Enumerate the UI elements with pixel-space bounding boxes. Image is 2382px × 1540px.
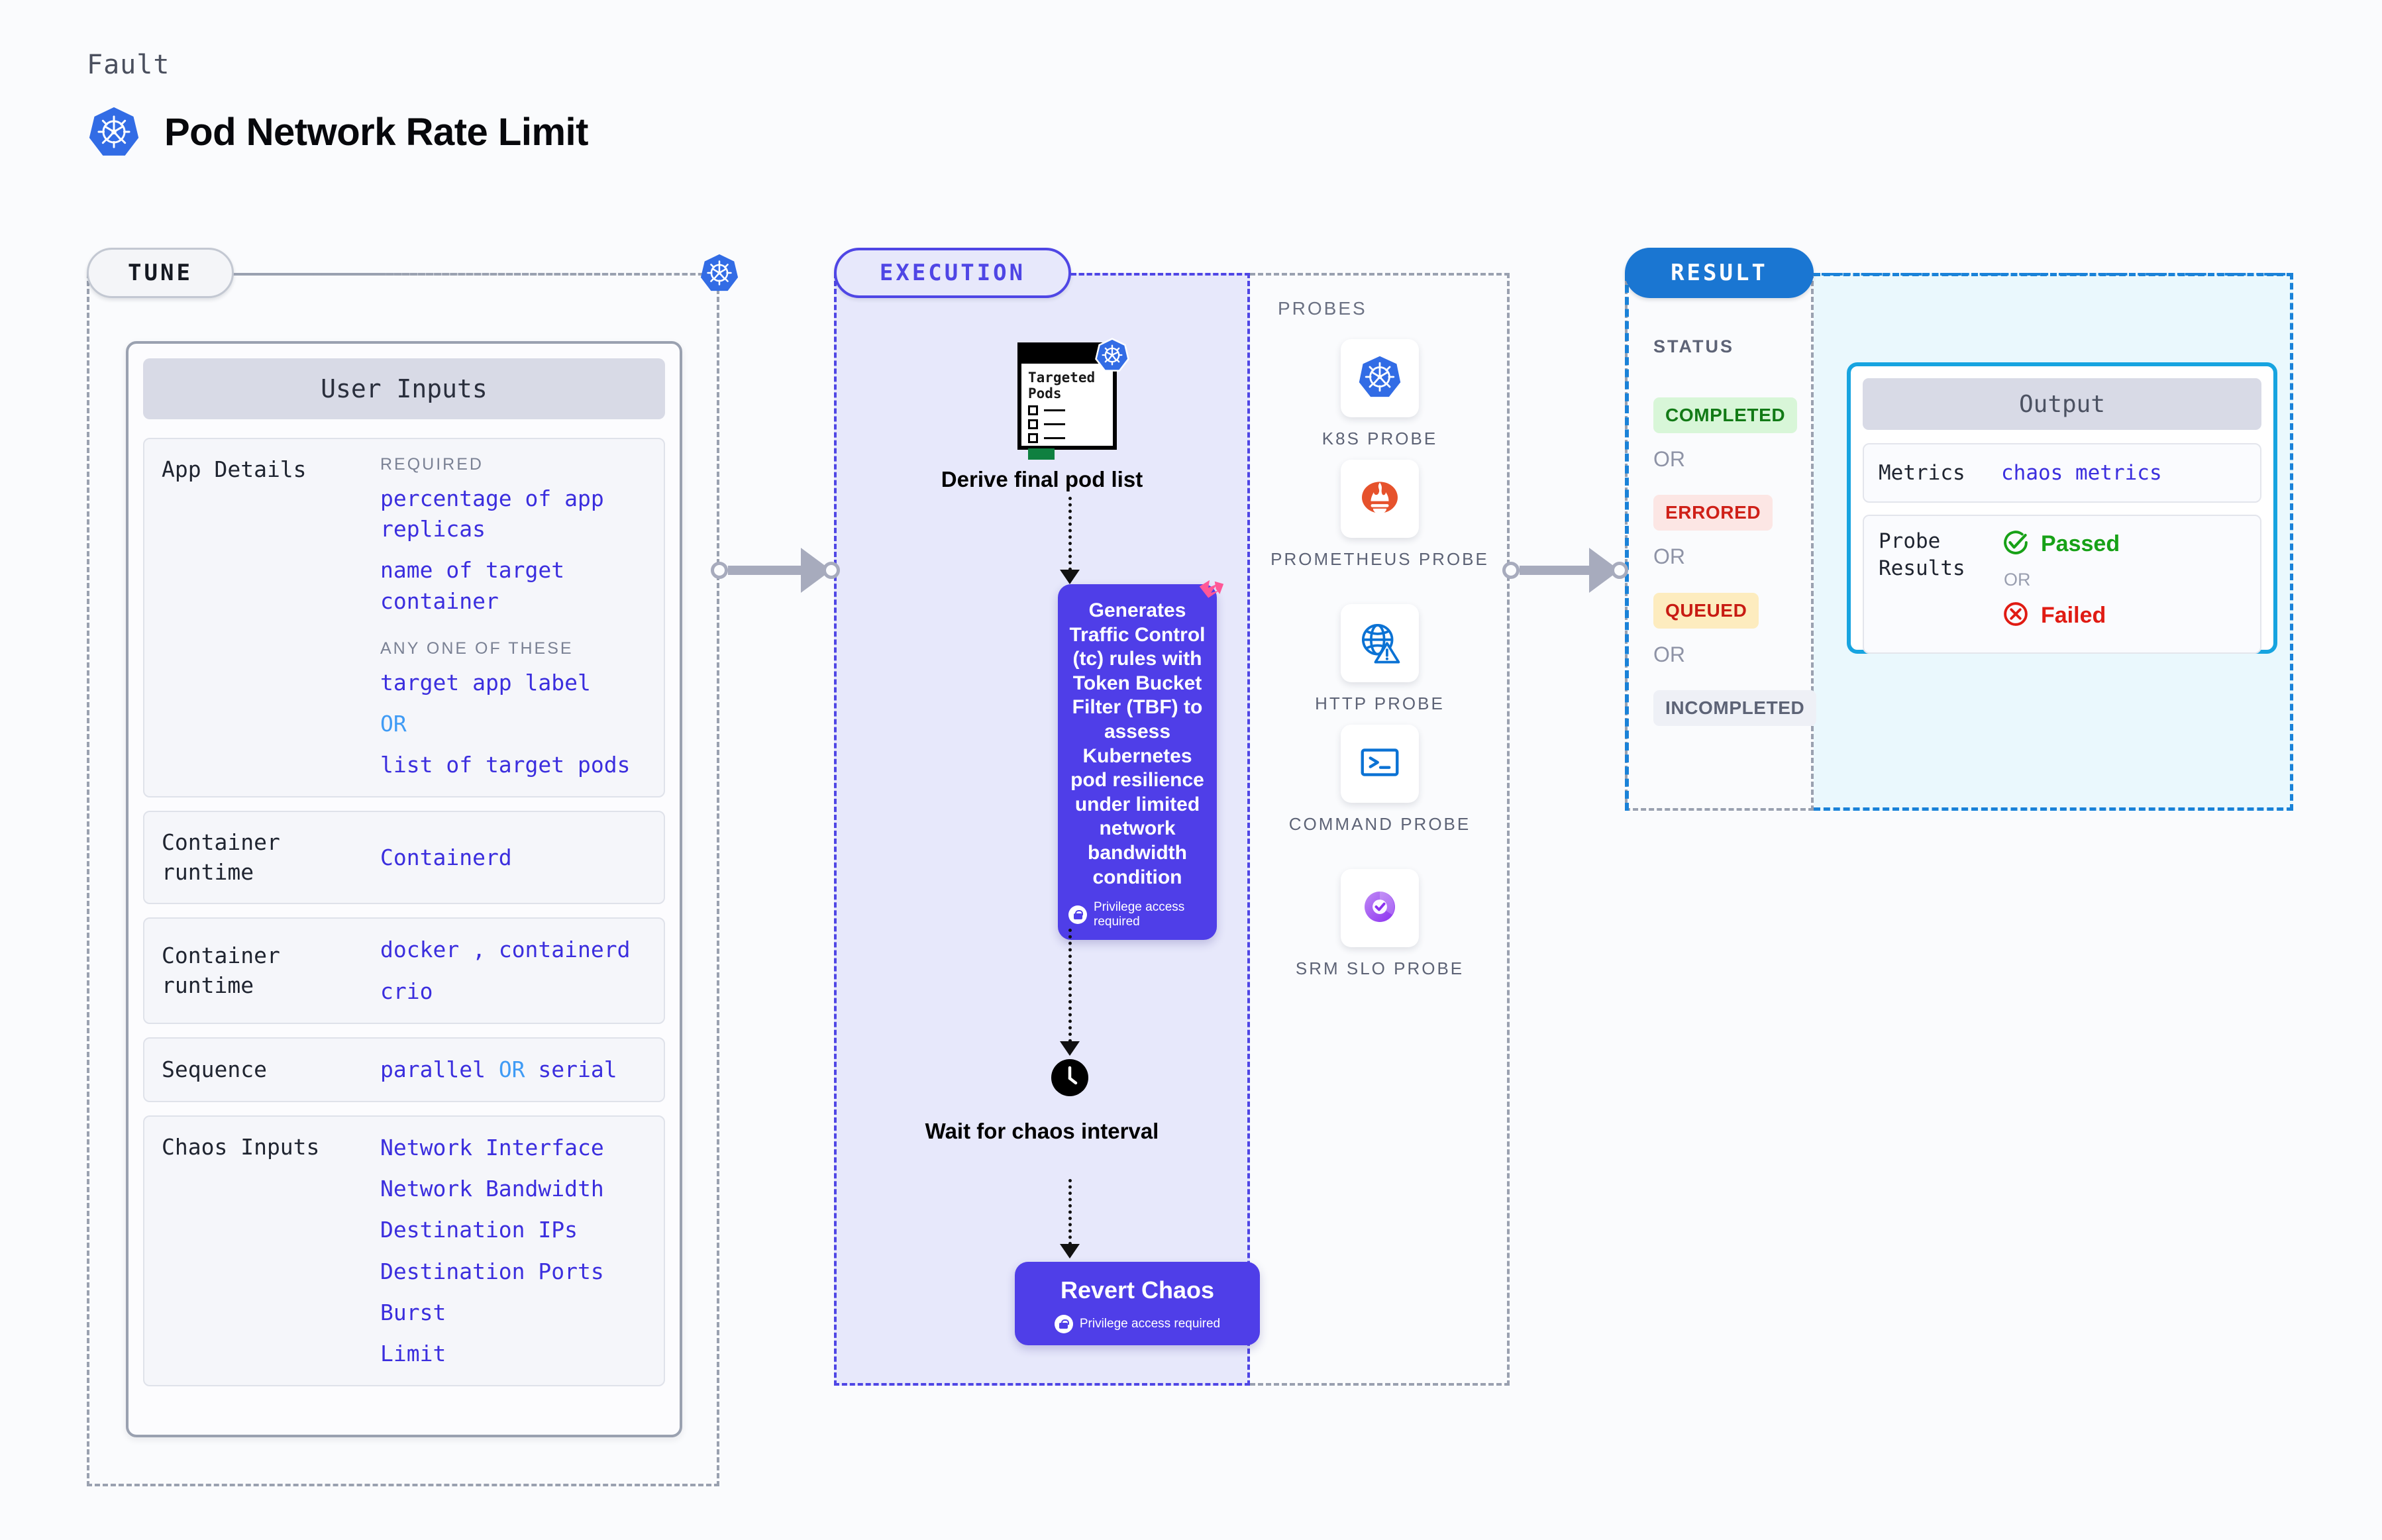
connector-bar: [728, 566, 801, 575]
checkbox-icon: [1028, 433, 1038, 443]
probe-label: HTTP PROBE: [1315, 693, 1445, 715]
tune-header-line: [234, 273, 719, 276]
probe-command[interactable]: COMMAND PROBE: [1250, 725, 1510, 835]
x-circle-icon: [2001, 599, 2030, 632]
input-value: target app label: [380, 668, 647, 698]
probe-label: PROMETHEUS PROBE: [1270, 548, 1489, 570]
probe-tile: [1341, 725, 1419, 803]
row-key: Chaos Inputs: [162, 1133, 380, 1162]
row-key: Container runtime: [162, 941, 380, 1000]
row-values: docker , containerd crio: [380, 935, 647, 1006]
chaos-action-card: Generates Traffic Control (tc) rules wit…: [1058, 584, 1217, 940]
status-badge-errored: ERRORED: [1653, 495, 1773, 531]
row-key: Probe Results: [1879, 528, 2001, 582]
probe-result-failed: Failed: [2001, 599, 2246, 632]
input-value: name of target container: [380, 555, 647, 616]
pods-list-item: [1028, 419, 1108, 429]
input-value: Destination IPs: [380, 1215, 647, 1245]
probes-column: PROBES: [1250, 273, 1510, 1386]
or-separator: OR: [1653, 447, 1685, 472]
privilege-note-row: Privilege access required: [1068, 900, 1206, 929]
or-separator: OR: [1653, 544, 1685, 569]
input-value: Network Interface: [380, 1133, 647, 1163]
flow-arrow-2: [1060, 1041, 1080, 1056]
row-values: parallel OR serial: [380, 1054, 647, 1085]
input-value: list of target pods: [380, 750, 647, 780]
probe-result-passed: Passed: [2001, 528, 2246, 560]
targeted-pods-illustration: Targeted Pods: [1017, 342, 1122, 455]
input-value: docker , containerd: [380, 935, 647, 965]
connector-start-dot: [711, 562, 728, 579]
status-badge-incompleted: INCOMPLETED: [1653, 690, 1816, 726]
litmus-icon: [1196, 578, 1226, 608]
row-values: Passed OR Failed: [2001, 528, 2246, 632]
input-value: Burst: [380, 1298, 647, 1328]
output-row-probe-results: Probe Results Passed OR: [1863, 515, 2261, 654]
input-value: Containerd: [380, 843, 647, 873]
metrics-value: chaos metrics: [2001, 461, 2246, 485]
srm-slo-icon: [1357, 884, 1403, 933]
checkbox-icon: [1028, 419, 1038, 429]
kubernetes-icon: [87, 105, 141, 159]
terminal-icon: [1357, 739, 1403, 789]
output-card: Output Metrics chaos metrics Probe Resul…: [1847, 362, 2277, 654]
row-values: Containerd: [380, 843, 647, 873]
chaos-action-text: Generates Traffic Control (tc) rules wit…: [1068, 599, 1206, 890]
output-title: Output: [1863, 378, 2261, 430]
row-values: Network Interface Network Bandwidth Dest…: [380, 1133, 647, 1369]
row-key: Container runtime: [162, 828, 380, 887]
result-column: STATUS COMPLETED OR ERRORED OR QUEUED OR…: [1625, 273, 1814, 811]
list-line: [1044, 437, 1065, 439]
output-row-metrics: Metrics chaos metrics: [1863, 443, 2261, 503]
privilege-note: Privilege access required: [1094, 900, 1206, 929]
probe-tile: [1341, 869, 1419, 947]
probe-label: K8S PROBE: [1322, 428, 1437, 450]
probe-tile: [1341, 460, 1419, 538]
sub-label-required: REQUIRED: [380, 455, 647, 474]
input-value: Network Bandwidth: [380, 1174, 647, 1204]
or-separator: OR: [1653, 642, 1685, 667]
flow-connector-1: [1068, 497, 1072, 571]
checkbox-icon: [1028, 405, 1038, 415]
failed-label: Failed: [2041, 603, 2106, 629]
lock-icon: [1055, 1315, 1073, 1333]
lock-icon: [1068, 905, 1087, 924]
clock-icon: [1051, 1059, 1088, 1096]
pods-body: Targeted Pods: [1021, 364, 1113, 460]
row-values: chaos metrics: [2001, 461, 2246, 485]
probe-http[interactable]: HTTP PROBE: [1250, 604, 1510, 715]
globe-warning-icon: [1357, 619, 1403, 668]
derive-pod-list-caption: Derive final pod list: [834, 466, 1250, 493]
input-value: parallel OR serial: [380, 1054, 647, 1085]
diagram-canvas: Fault: [0, 0, 2382, 1540]
prometheus-icon: [1356, 474, 1404, 525]
status-bar: [1028, 448, 1055, 460]
connector-tune-to-execution: [711, 548, 840, 593]
user-inputs-title: User Inputs: [143, 358, 665, 419]
probe-tile: [1341, 604, 1419, 682]
input-value: percentage of app replicas: [380, 484, 647, 544]
probe-tile: [1341, 339, 1419, 417]
tune-row-container-runtime-2: Container runtime docker , containerd cr…: [143, 917, 665, 1023]
privilege-note: Privilege access required: [1080, 1317, 1220, 1331]
targeted-pods-title: Targeted Pods: [1028, 370, 1108, 401]
sub-label-any-one: ANY ONE OF THESE: [380, 639, 647, 658]
flow-connector-2: [1068, 929, 1072, 1043]
user-inputs-card: User Inputs App Details REQUIRED percent…: [126, 341, 682, 1437]
probe-label: COMMAND PROBE: [1289, 813, 1471, 835]
probe-k8s[interactable]: K8S PROBE: [1250, 339, 1510, 450]
input-value: crio: [380, 976, 647, 1007]
probes-label: PROBES: [1278, 298, 1367, 319]
probe-label: SRM SLO PROBE: [1296, 958, 1464, 980]
connector-probes-to-result: [1502, 548, 1628, 593]
list-line: [1044, 423, 1065, 425]
flow-connector-3: [1068, 1179, 1072, 1245]
fault-kicker: Fault: [87, 50, 170, 80]
row-values: REQUIRED percentage of app replicas name…: [380, 455, 647, 780]
privilege-note-row: Privilege access required: [1025, 1315, 1249, 1333]
revert-chaos-card: Revert Chaos Privilege access required: [1015, 1262, 1260, 1345]
input-value: Destination Ports: [380, 1257, 647, 1287]
flow-arrow-1: [1060, 570, 1080, 584]
status-badge-completed: COMPLETED: [1653, 397, 1797, 433]
page-title: Pod Network Rate Limit: [164, 110, 588, 154]
pods-list-item: [1028, 433, 1108, 443]
input-value: Limit: [380, 1339, 647, 1369]
list-line: [1044, 409, 1065, 411]
passed-label: Passed: [2041, 531, 2120, 557]
tune-row-chaos-inputs: Chaos Inputs Network Interface Network B…: [143, 1115, 665, 1386]
pods-list-item: [1028, 405, 1108, 415]
tune-pill[interactable]: TUNE: [87, 248, 234, 298]
connector-bar: [1520, 566, 1589, 575]
probe-prometheus[interactable]: PROMETHEUS PROBE: [1250, 460, 1510, 570]
revert-chaos-title: Revert Chaos: [1025, 1276, 1249, 1304]
flow-arrow-3: [1060, 1244, 1080, 1258]
row-key: Sequence: [162, 1055, 380, 1085]
or-separator: OR: [380, 709, 647, 739]
tune-row-sequence: Sequence parallel OR serial: [143, 1037, 665, 1102]
output-column: Output Metrics chaos metrics Probe Resul…: [1814, 273, 2293, 811]
status-label: STATUS: [1653, 336, 1734, 357]
fault-title-row: Pod Network Rate Limit: [87, 105, 588, 159]
wait-interval-caption: Wait for chaos interval: [834, 1118, 1250, 1145]
status-badge-queued: QUEUED: [1653, 593, 1759, 629]
check-circle-icon: [2001, 528, 2030, 560]
kubernetes-icon: [1355, 352, 1404, 405]
kubernetes-icon: [1094, 337, 1130, 373]
kubernetes-icon: [699, 252, 740, 293]
row-key: App Details: [162, 455, 380, 485]
tune-row-container-runtime-1: Container runtime Containerd: [143, 811, 665, 904]
row-key: Metrics: [1879, 460, 2001, 487]
execution-column: Targeted Pods: [834, 273, 1250, 1386]
or-separator: OR: [2004, 570, 2246, 590]
tune-row-app-details: App Details REQUIRED percentage of app r…: [143, 438, 665, 797]
probe-srm-slo[interactable]: SRM SLO PROBE: [1250, 869, 1510, 980]
